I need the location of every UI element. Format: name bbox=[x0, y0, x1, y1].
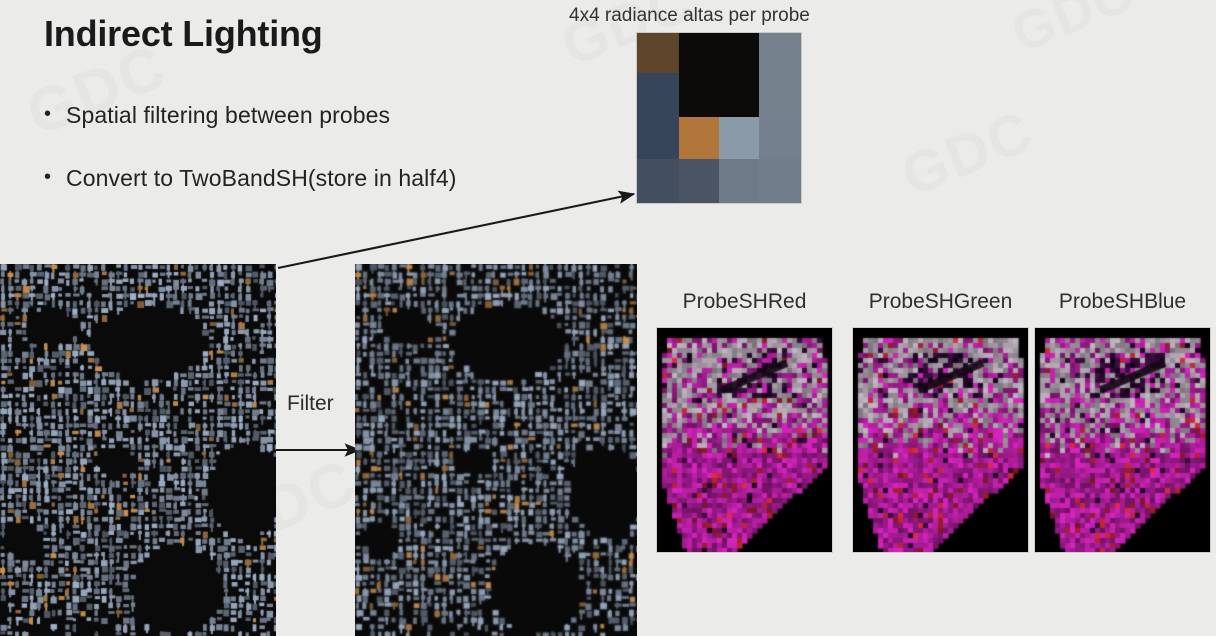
probe-atlas-unfiltered bbox=[0, 264, 276, 636]
probe-atlas-unfiltered-image bbox=[0, 264, 276, 636]
filter-step-label: Filter bbox=[287, 392, 334, 416]
probe-channel-label: ProbeSHRed bbox=[683, 290, 807, 314]
radiance-atlas-grid bbox=[637, 33, 801, 203]
atlas-cell bbox=[637, 117, 679, 159]
atlas-cell bbox=[679, 117, 719, 159]
watermark-gdc: GDC bbox=[892, 97, 1042, 210]
probe-atlas-filtered bbox=[355, 264, 637, 636]
probe-channel-image bbox=[1035, 328, 1210, 552]
bullet-marker-icon: • bbox=[44, 102, 66, 127]
slide-title: Indirect Lighting bbox=[44, 14, 323, 54]
probe-channel-image bbox=[657, 328, 832, 552]
atlas-cell bbox=[759, 117, 801, 159]
probe-channel-label: ProbeSHGreen bbox=[869, 290, 1013, 314]
atlas-cell bbox=[679, 33, 719, 73]
atlas-cell bbox=[759, 33, 801, 73]
probe-channel-label: ProbeSHBlue bbox=[1059, 290, 1186, 314]
atlas-cell bbox=[637, 73, 679, 117]
atlas-cell bbox=[679, 159, 719, 203]
atlas-cell bbox=[719, 33, 759, 73]
atlas-cell bbox=[759, 73, 801, 117]
atlas-cell bbox=[719, 73, 759, 117]
atlas-cell bbox=[719, 117, 759, 159]
probe-blue-canvas bbox=[1035, 328, 1210, 552]
watermark-gdc: GDC bbox=[1003, 0, 1143, 65]
probe-red-canvas bbox=[657, 328, 832, 552]
atlas-cell bbox=[719, 159, 759, 203]
bullet-item: • Convert to TwoBandSH(store in half4) bbox=[44, 165, 457, 192]
bullet-text: Convert to TwoBandSH(store in half4) bbox=[66, 165, 457, 192]
probe-atlas-filtered-image bbox=[355, 264, 637, 636]
atlas-cell bbox=[759, 159, 801, 203]
atlas-cell bbox=[679, 73, 719, 117]
probe-green-canvas bbox=[853, 328, 1028, 552]
slide-canvas: GDC GDC GDC GDC GDC Indirect Lighting • … bbox=[0, 0, 1216, 636]
bullet-text: Spatial filtering between probes bbox=[66, 102, 390, 129]
atlas-cell bbox=[637, 159, 679, 203]
bullet-item: • Spatial filtering between probes bbox=[44, 102, 390, 129]
bullet-marker-icon: • bbox=[44, 165, 66, 190]
probe-channel-image bbox=[853, 328, 1028, 552]
atlas-cell bbox=[637, 33, 679, 73]
radiance-atlas-caption: 4x4 radiance altas per probe bbox=[569, 5, 810, 27]
